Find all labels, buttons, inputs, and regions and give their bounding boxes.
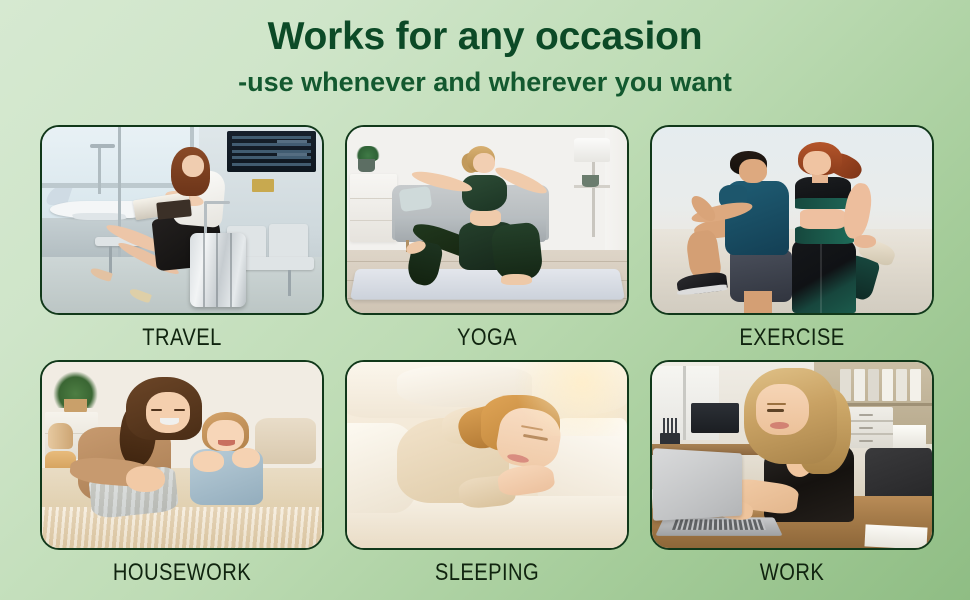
photo-yoga: [347, 127, 627, 313]
use-case-grid: TRAVEL: [40, 125, 935, 587]
use-case-card-housework: HOUSEWORK: [40, 360, 324, 587]
photo-frame-sleeping: [345, 360, 629, 550]
card-label-travel: TRAVEL: [63, 324, 302, 352]
card-label-exercise: EXERCISE: [673, 324, 912, 352]
laptop-icon: [653, 448, 742, 521]
flight-board-icon: [227, 131, 317, 172]
photo-frame-exercise: [650, 125, 934, 315]
suitcase-icon: [190, 233, 246, 307]
yoga-mat-icon: [350, 269, 625, 299]
photo-housework: [42, 362, 322, 548]
photo-frame-work: [650, 360, 934, 550]
use-case-card-work: WORK: [650, 360, 934, 587]
use-case-card-sleeping: SLEEPING: [345, 360, 629, 587]
page-title: Works for any occasion: [0, 14, 970, 60]
page-subtitle: -use whenever and wherever you want: [0, 66, 970, 98]
card-label-sleeping: SLEEPING: [368, 559, 607, 587]
use-case-card-yoga: YOGA: [345, 125, 629, 352]
photo-travel: [42, 127, 322, 313]
card-label-yoga: YOGA: [368, 324, 607, 352]
card-label-housework: HOUSEWORK: [63, 559, 302, 587]
use-case-card-travel: TRAVEL: [40, 125, 324, 352]
photo-sleeping: [347, 362, 627, 548]
promotional-banner: Works for any occasion -use whenever and…: [0, 0, 970, 600]
photo-work: [652, 362, 932, 548]
banner-header: Works for any occasion -use whenever and…: [0, 14, 970, 98]
photo-exercise: [652, 127, 932, 313]
use-case-card-exercise: EXERCISE: [650, 125, 934, 352]
photo-frame-travel: [40, 125, 324, 315]
photo-frame-yoga: [345, 125, 629, 315]
card-label-work: WORK: [673, 559, 912, 587]
photo-frame-housework: [40, 360, 324, 550]
